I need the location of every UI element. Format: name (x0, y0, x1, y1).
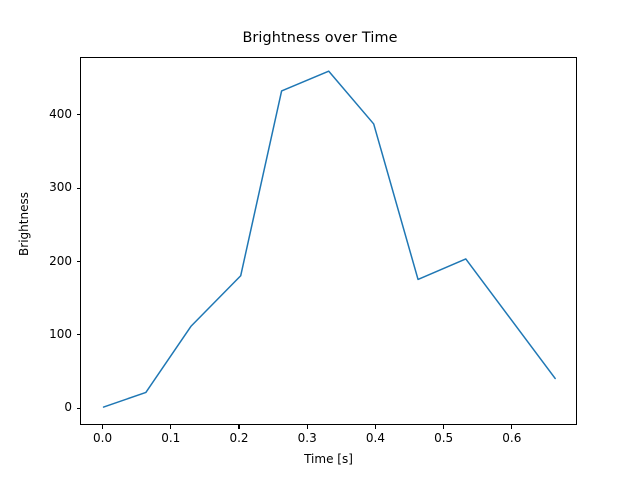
matplotlib-figure: Brightness over Time 0.00.10.20.30.40.50… (0, 0, 640, 480)
line-series-svg (81, 58, 578, 426)
page-title: Brightness over Time (0, 30, 640, 46)
brightness-line (104, 71, 556, 407)
y-tick-mark (77, 114, 81, 115)
x-tick-label: 0.3 (277, 431, 337, 445)
x-tick-mark (102, 425, 103, 429)
x-tick-mark (307, 425, 308, 429)
y-axis-label: Brightness (17, 164, 31, 284)
x-tick-label: 0.1 (141, 431, 201, 445)
x-tick-mark (238, 425, 239, 429)
y-tick-mark (77, 188, 81, 189)
y-tick-mark (77, 408, 81, 409)
x-tick-mark (375, 425, 376, 429)
y-tick-mark (77, 334, 81, 335)
y-tick-label: 400 (10, 107, 72, 121)
x-tick-label: 0.2 (209, 431, 269, 445)
plot-area (80, 57, 577, 425)
y-tick-label: 100 (10, 327, 72, 341)
x-tick-label: 0.6 (482, 431, 542, 445)
x-tick-mark (443, 425, 444, 429)
y-tick-mark (77, 261, 81, 262)
x-axis-label: Time [s] (80, 452, 577, 466)
x-tick-mark (170, 425, 171, 429)
x-tick-label: 0.4 (345, 431, 405, 445)
x-tick-label: 0.0 (73, 431, 133, 445)
x-tick-label: 0.5 (414, 431, 474, 445)
x-tick-mark (511, 425, 512, 429)
y-tick-label: 0 (10, 400, 72, 414)
